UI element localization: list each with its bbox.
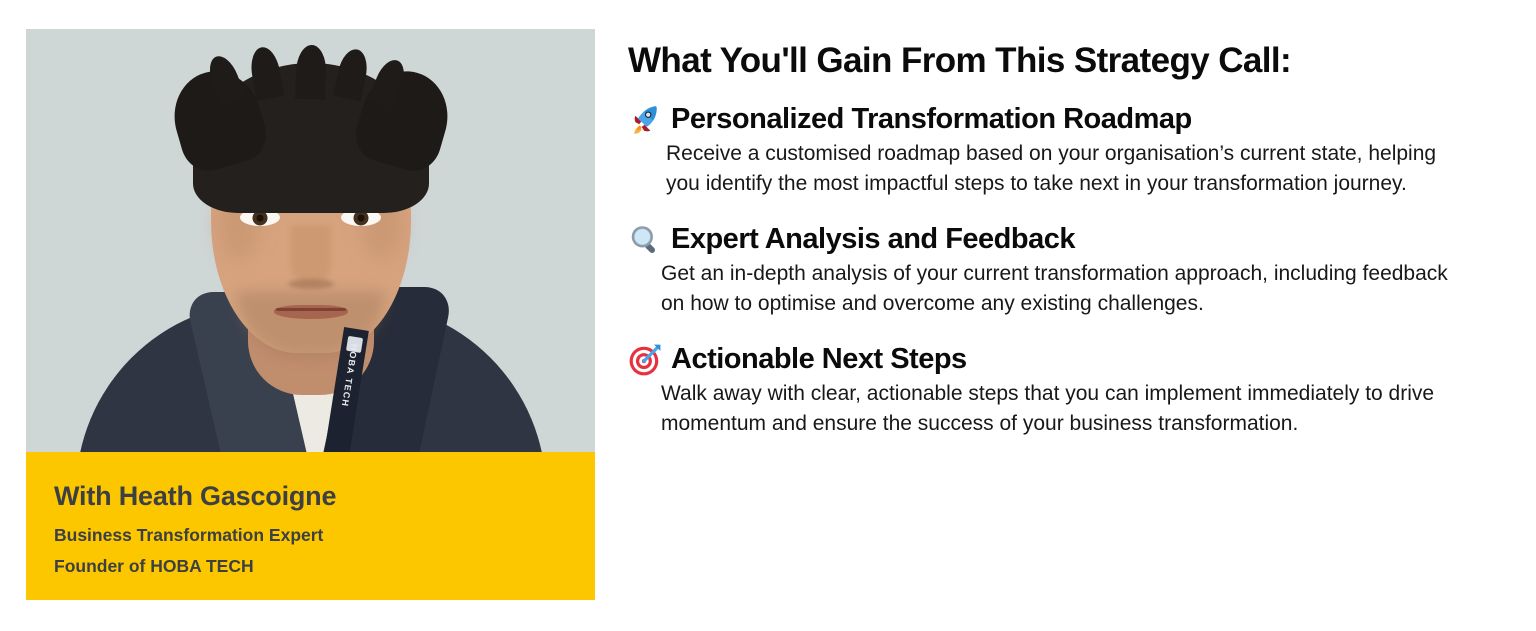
mouth-line xyxy=(276,308,346,311)
speaker-photo: HOBA TECH xyxy=(26,29,595,452)
rocket-icon xyxy=(628,103,662,137)
speaker-founder: Founder of HOBA TECH xyxy=(54,557,595,576)
nose xyxy=(291,225,331,285)
speaker-name: With Heath Gascoigne xyxy=(54,482,595,512)
benefits-title: What You'll Gain From This Strategy Call… xyxy=(628,42,1468,81)
benefit-heading-row: Actionable Next Steps xyxy=(628,343,1468,377)
magnifying-glass-icon xyxy=(628,223,662,257)
benefit-heading-row: Expert Analysis and Feedback xyxy=(628,223,1468,257)
benefit-heading-row: Personalized Transformation Roadmap xyxy=(628,103,1468,137)
benefit-body: Walk away with clear, actionable steps t… xyxy=(628,379,1461,439)
speaker-card: HOBA TECH With Heath Gascoigne Business … xyxy=(26,29,595,600)
benefit-item-analysis: Expert Analysis and Feedback Get an in-d… xyxy=(628,223,1468,319)
hair-spike xyxy=(295,44,327,99)
nostrils xyxy=(288,279,334,289)
benefit-title: Expert Analysis and Feedback xyxy=(671,223,1075,256)
direct-hit-target-icon xyxy=(628,343,662,377)
speaker-role: Business Transformation Expert xyxy=(54,526,595,545)
speaker-caption-band: With Heath Gascoigne Business Transforma… xyxy=(26,452,595,600)
benefit-item-next-steps: Actionable Next Steps Walk away with cle… xyxy=(628,343,1468,439)
benefit-item-roadmap: Personalized Transformation Roadmap Rece… xyxy=(628,103,1468,199)
benefit-body: Get an in-depth analysis of your current… xyxy=(628,259,1461,319)
benefit-title: Actionable Next Steps xyxy=(671,343,967,376)
benefit-title: Personalized Transformation Roadmap xyxy=(671,103,1192,136)
benefits-section: What You'll Gain From This Strategy Call… xyxy=(628,42,1468,439)
portrait-illustration: HOBA TECH xyxy=(26,29,595,452)
benefit-body: Receive a customised roadmap based on yo… xyxy=(628,139,1466,199)
lanyard-text: HOBA TECH xyxy=(339,343,359,408)
